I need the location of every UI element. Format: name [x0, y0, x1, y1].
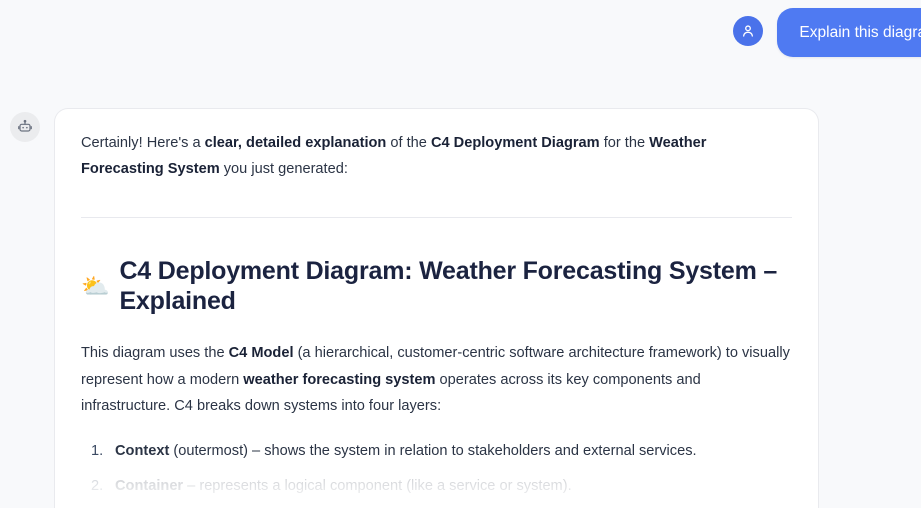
intro-part-2: of the [386, 135, 431, 151]
intro-paragraph: Certainly! Here's a clear, detailed expl… [81, 131, 792, 182]
assistant-answer-card: Certainly! Here's a clear, detailed expl… [54, 108, 819, 508]
user-message-row: Explain this diagram [0, 8, 921, 64]
assistant-avatar [10, 112, 40, 142]
body-bold-2: weather forecasting system [243, 372, 435, 388]
intro-bold-1: clear, detailed explanation [205, 135, 387, 151]
list-item-bold: Container [115, 478, 183, 494]
intro-part-3: for the [600, 135, 649, 151]
intro-part-1: Certainly! Here's a [81, 135, 205, 151]
intro-bold-2: C4 Deployment Diagram [431, 135, 600, 151]
user-message-bubble[interactable]: Explain this diagram [777, 8, 921, 57]
body-part-1: This diagram uses the [81, 345, 229, 361]
body-bold-1: C4 Model [229, 345, 294, 361]
robot-icon [17, 119, 33, 135]
section-divider [81, 217, 792, 218]
c4-layers-list: Context (outermost) – shows the system i… [81, 438, 792, 500]
section-heading-text: C4 Deployment Diagram: Weather Forecasti… [119, 256, 792, 316]
list-item-bold: Context [115, 443, 169, 459]
list-item: Context (outermost) – shows the system i… [115, 438, 792, 465]
section-heading: ⛅ C4 Deployment Diagram: Weather Forecas… [81, 256, 792, 316]
intro-part-4: you just generated: [220, 161, 348, 177]
assistant-message-row: Certainly! Here's a clear, detailed expl… [0, 108, 921, 465]
user-avatar [733, 16, 763, 46]
list-item-text: – represents a logical component (like a… [183, 478, 572, 494]
list-item-text: (outermost) – shows the system in relati… [169, 443, 696, 459]
user-icon [740, 23, 756, 39]
list-item: Container – represents a logical compone… [115, 473, 792, 500]
body-paragraph: This diagram uses the C4 Model (a hierar… [81, 340, 792, 420]
sun-behind-cloud-icon: ⛅ [81, 275, 109, 298]
user-message-text: Explain this diagram [799, 24, 921, 41]
